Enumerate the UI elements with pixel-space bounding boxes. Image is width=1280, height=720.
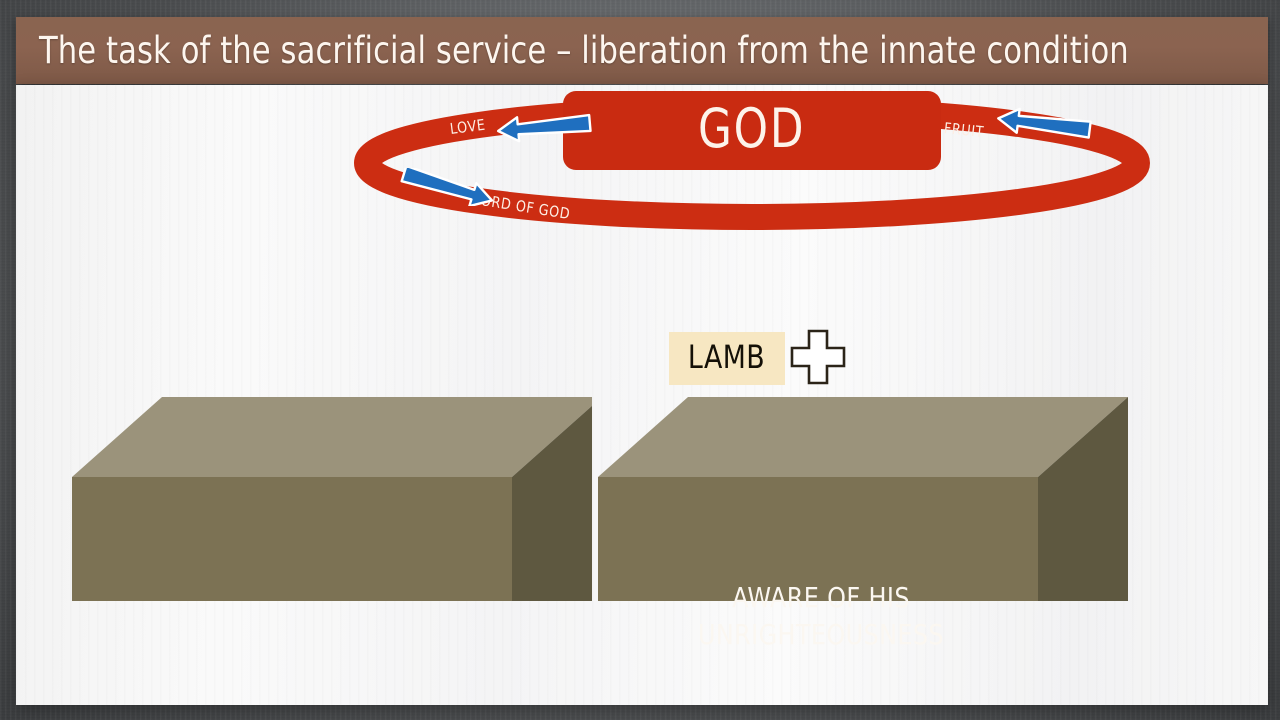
lamb-tag: LAMB bbox=[669, 332, 785, 385]
slide-title: The task of the sacrificial service – li… bbox=[16, 29, 1129, 72]
block-cain bbox=[72, 311, 592, 601]
arrow-left-icon bbox=[994, 107, 1094, 141]
abel-block-text: AWARE OF HIS UNRIGHTEOUSNESS bbox=[636, 579, 1007, 653]
slide-canvas: GOD LOVE FRUIT WORD OF GOD bbox=[16, 85, 1268, 705]
god-node: GOD bbox=[563, 91, 941, 170]
arrow-right-icon bbox=[398, 168, 498, 206]
god-node-label: GOD bbox=[698, 102, 805, 160]
god-cycle-diagram: GOD LOVE FRUIT WORD OF GOD bbox=[16, 85, 1268, 245]
lamb-tag-label: LAMB bbox=[688, 341, 765, 376]
abel-block-text-line-2: UNRIGHTEOUSNESS bbox=[636, 616, 1007, 653]
cross-icon bbox=[790, 329, 846, 385]
block-abel: LAMB AWARE OF HIS UNRIGHTEOUSNESS bbox=[598, 311, 1198, 601]
slide-title-banner: The task of the sacrificial service – li… bbox=[16, 17, 1268, 84]
slide-root: The task of the sacrificial service – li… bbox=[0, 0, 1280, 720]
abel-block-text-line-1: AWARE OF HIS bbox=[636, 579, 1007, 616]
arrow-left-icon bbox=[494, 110, 594, 144]
cuboid-shape-cain bbox=[72, 311, 592, 601]
